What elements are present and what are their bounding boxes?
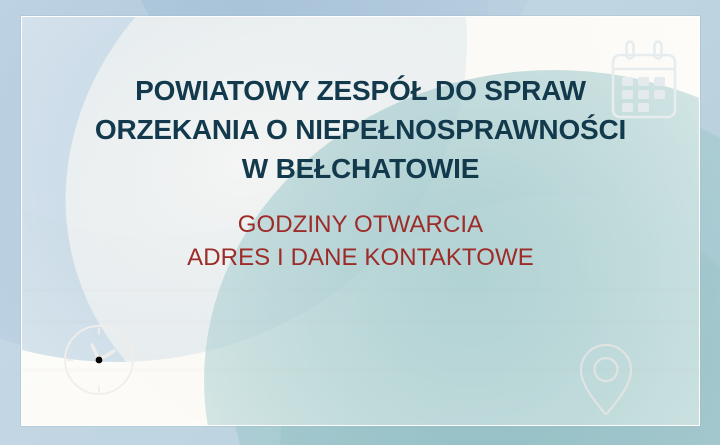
- headline-line-3: W BEŁCHATOWIE: [22, 149, 699, 188]
- subtitle-line-1: GODZINY OTWARCIA: [22, 208, 699, 241]
- headline-line-1: POWIATOWY ZESPÓŁ DO SPRAW: [22, 71, 699, 110]
- map-pin-icon: [571, 337, 641, 426]
- clock-icon: [56, 317, 142, 408]
- content-panel: POWIATOWY ZESPÓŁ DO SPRAW ORZEKANIA O NI…: [21, 16, 700, 426]
- slide-canvas: POWIATOWY ZESPÓŁ DO SPRAW ORZEKANIA O NI…: [0, 0, 720, 445]
- slide-text-block: POWIATOWY ZESPÓŁ DO SPRAW ORZEKANIA O NI…: [22, 71, 699, 274]
- page-subtitle: GODZINY OTWARCIA ADRES I DANE KONTAKTOWE: [22, 208, 699, 274]
- headline-line-2: ORZEKANIA O NIEPEŁNOSPRAWNOŚCI: [22, 110, 699, 149]
- panel-paper-streaks: [22, 267, 699, 417]
- subtitle-line-2: ADRES I DANE KONTAKTOWE: [22, 241, 699, 274]
- page-title: POWIATOWY ZESPÓŁ DO SPRAW ORZEKANIA O NI…: [22, 71, 699, 188]
